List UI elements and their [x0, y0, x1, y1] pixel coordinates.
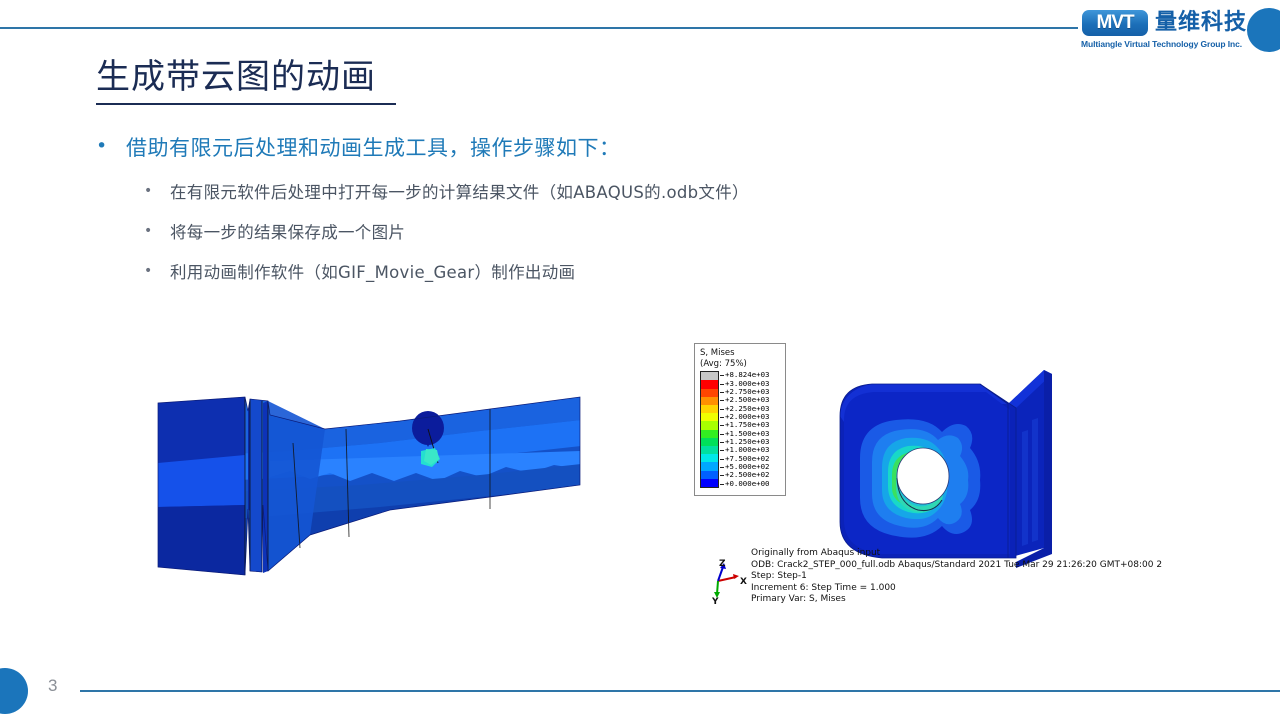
viewport-info-line: Increment 6: Step Time = 1.000 — [751, 583, 1162, 595]
bullet-marker: • — [96, 133, 126, 161]
legend-swatch — [701, 380, 718, 388]
legend-swatch — [701, 389, 718, 397]
legend-swatch — [701, 397, 718, 405]
legend-swatch — [701, 405, 718, 413]
header-accent-circle — [1247, 8, 1280, 52]
page-title: 生成带云图的动画 — [96, 58, 376, 97]
legend-average: (Avg: 75%) — [700, 359, 782, 370]
brand-name-cn: 量维科技 — [1155, 12, 1247, 34]
footer-divider — [80, 690, 1280, 692]
bullet-level2-text: 在有限元软件后处理中打开每一步的计算结果文件（如ABAQUS的.odb文件） — [170, 181, 749, 206]
legend-swatch — [701, 438, 718, 446]
bullet-level2-3: • 利用动画制作软件（如GIF_Movie_Gear）制作出动画 — [144, 261, 575, 286]
legend-swatch — [701, 454, 718, 462]
legend-tick-label: +0.000e+00 — [720, 480, 770, 488]
bullet-level2-1: • 在有限元软件后处理中打开每一步的计算结果文件（如ABAQUS的.odb文件） — [144, 181, 749, 206]
legend-swatch — [701, 479, 718, 487]
bullet-level2-text: 利用动画制作软件（如GIF_Movie_Gear）制作出动画 — [170, 261, 575, 286]
legend-swatch — [701, 446, 718, 454]
brand-logo-row: MVT 量维科技 — [1078, 8, 1248, 38]
legend-variable: S, Mises — [700, 348, 782, 359]
brand-logo: MVT 量维科技 Multiangle Virtual Technology G… — [1078, 8, 1248, 54]
brand-name-en: Multiangle Virtual Technology Group Inc. — [1078, 39, 1248, 49]
legend-swatch — [701, 421, 718, 429]
viewport-info: Originally from Abaqus input ODB: Crack2… — [751, 548, 1162, 603]
bullet-level2-2: • 将每一步的结果保存成一个图片 — [144, 221, 405, 246]
legend-tick-labels: +8.824e+03 +3.000e+03 +2.750e+03 +2.500e… — [720, 371, 770, 488]
contour-legend: S, Mises (Avg: 75%) +8.824e+03 — [694, 343, 786, 496]
viewport-info-line: Step: Step-1 — [751, 571, 1162, 583]
header-divider — [0, 27, 1078, 29]
viewport-info-line: ODB: Crack2_STEP_000_full.odb Abaqus/Sta… — [751, 560, 1162, 572]
footer-accent-circle — [0, 668, 28, 714]
page-number: 3 — [48, 676, 57, 696]
bullet-level1-text: 借助有限元后处理和动画生成工具，操作步骤如下： — [126, 133, 621, 163]
bullet-marker: • — [144, 221, 170, 242]
legend-color-bar — [700, 371, 719, 488]
legend-swatch — [701, 430, 718, 438]
slide-canvas: MVT 量维科技 Multiangle Virtual Technology G… — [0, 0, 1280, 720]
viewport-info-line: Primary Var: S, Mises — [751, 594, 1162, 603]
viewport-info-line: Originally from Abaqus input — [751, 548, 1162, 560]
legend-body: +8.824e+03 +3.000e+03 +2.750e+03 +2.500e… — [700, 371, 782, 488]
legend-swatch — [701, 372, 718, 380]
fea-contour-image-shaft — [150, 385, 590, 585]
mvt-logo-mark: MVT — [1082, 10, 1148, 36]
bullet-level2-text: 将每一步的结果保存成一个图片 — [170, 221, 405, 246]
page-title-underline — [96, 103, 396, 105]
bullet-marker: • — [144, 181, 170, 202]
legend-swatch — [701, 471, 718, 479]
legend-swatch — [701, 413, 718, 421]
legend-swatch — [701, 462, 718, 470]
bullet-level1: • 借助有限元后处理和动画生成工具，操作步骤如下： — [96, 133, 621, 163]
bullet-marker: • — [144, 261, 170, 282]
viewport-info-clip: Originally from Abaqus input ODB: Crack2… — [694, 545, 1280, 603]
